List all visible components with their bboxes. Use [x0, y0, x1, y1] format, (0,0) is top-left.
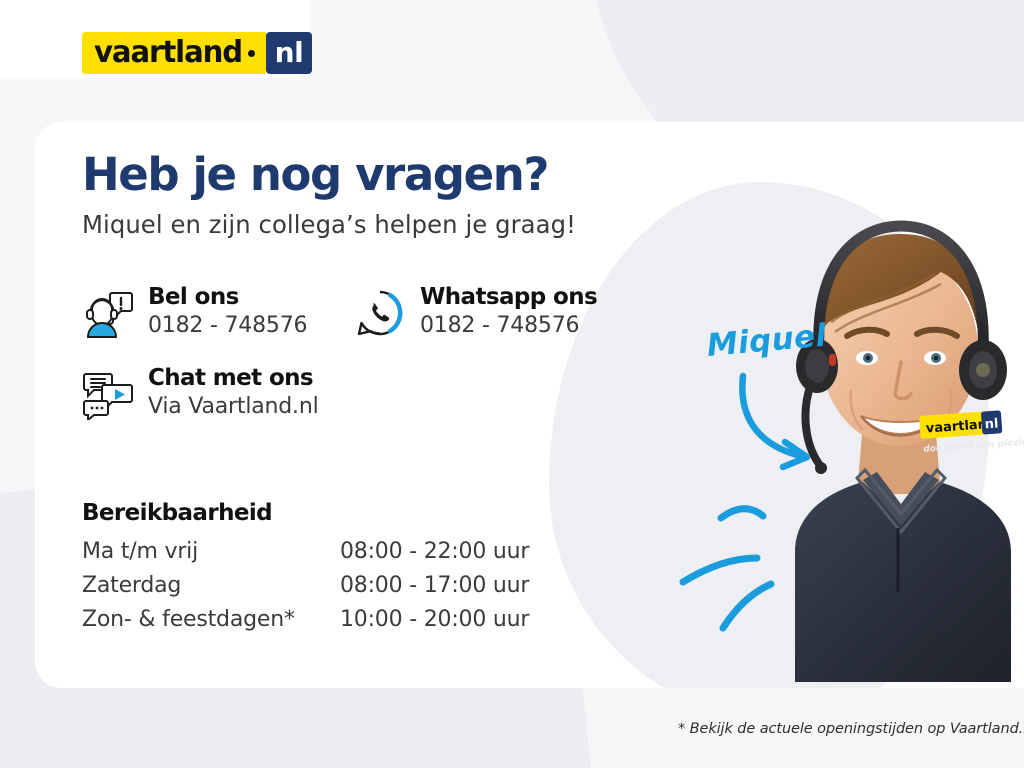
contact-row-top: Bel ons 0182 - 748576 Whatsapp ons [82, 285, 642, 342]
hours-time: 10:00 - 20:00 uur [340, 607, 529, 641]
opening-hours-table: Ma t/m vrij 08:00 - 22:00 uur Zaterdag 0… [82, 539, 529, 641]
contact-call-number: 0182 - 748576 [148, 310, 307, 342]
logo-navy-plate: nl [266, 32, 313, 74]
headset-person-icon [82, 287, 134, 339]
hours-day: Zaterdag [82, 573, 340, 607]
blue-accent-strokes [675, 482, 805, 632]
opening-hours-title: Bereikbaarheid [82, 500, 529, 526]
svg-text:doe jezelf een plezier: doe jezelf een plezier [923, 437, 1024, 455]
table-row: Zaterdag 08:00 - 17:00 uur [82, 573, 529, 607]
shirt-logo: vaartland nl doe jezelf een plezier [919, 410, 1024, 454]
page-title: Heb je nog vragen? [82, 148, 548, 201]
vaartland-logo[interactable]: vaartland nl [82, 32, 312, 74]
contact-whatsapp[interactable]: Whatsapp ons 0182 - 748576 [354, 285, 597, 342]
logo-tld: nl [275, 39, 304, 67]
svg-text:nl: nl [984, 416, 999, 432]
contact-call-text: Bel ons 0182 - 748576 [134, 285, 307, 342]
hours-day: Zon- & feestdagen* [82, 607, 340, 641]
promo-banner: vaartland nl [0, 0, 1024, 768]
content-card: vaartland nl doe jezelf een plezier Heb … [35, 122, 1024, 688]
logo-wordmark: vaartland [94, 38, 242, 68]
chat-bubbles-icon [82, 368, 134, 420]
contact-whatsapp-text: Whatsapp ons 0182 - 748576 [406, 285, 597, 342]
contact-row-bottom: Chat met ons Via Vaartland.nl [82, 366, 642, 423]
contact-methods: Bel ons 0182 - 748576 Whatsapp ons [82, 285, 642, 447]
table-row: Zon- & feestdagen* 10:00 - 20:00 uur [82, 607, 529, 641]
page-subtitle: Miquel en zijn collega’s helpen je graag… [82, 210, 576, 239]
logo-dot-icon [248, 50, 255, 57]
hours-time: 08:00 - 17:00 uur [340, 573, 529, 607]
contact-chat-title: Chat met ons [148, 366, 318, 391]
logo-yellow-plate: vaartland [82, 32, 266, 74]
hours-time: 08:00 - 22:00 uur [340, 539, 529, 573]
contact-whatsapp-number: 0182 - 748576 [420, 310, 597, 342]
contact-call-title: Bel ons [148, 285, 307, 310]
hours-day: Ma t/m vrij [82, 539, 340, 573]
contact-chat[interactable]: Chat met ons Via Vaartland.nl [82, 366, 354, 423]
footnote: * Bekijk de actuele openingstijden op Va… [678, 721, 1024, 737]
whatsapp-icon [354, 287, 406, 339]
contact-chat-value: Via Vaartland.nl [148, 391, 318, 423]
contact-call[interactable]: Bel ons 0182 - 748576 [82, 285, 354, 342]
table-row: Ma t/m vrij 08:00 - 22:00 uur [82, 539, 529, 573]
curved-arrow-icon [735, 372, 855, 472]
contact-whatsapp-title: Whatsapp ons [420, 285, 597, 310]
opening-hours: Bereikbaarheid Ma t/m vrij 08:00 - 22:00… [82, 500, 529, 641]
contact-chat-text: Chat met ons Via Vaartland.nl [134, 366, 318, 423]
